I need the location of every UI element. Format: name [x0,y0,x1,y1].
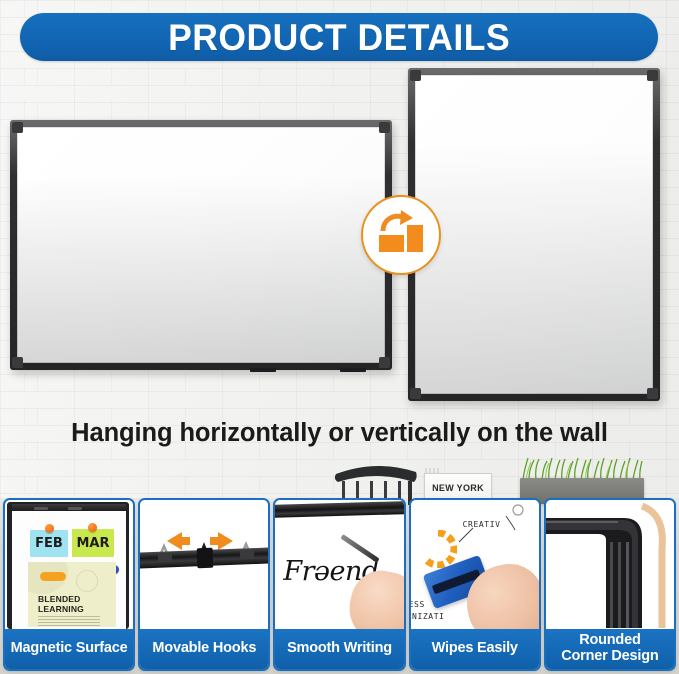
sketch-word-anizati: ANIZATI [411,612,445,621]
rotate-orientation-icon [375,209,427,262]
mini-whiteboard-surface: FEB MAR BLENDED LEARNING [12,510,126,629]
corner-top-left [410,70,421,81]
hero-headline: Hanging horizontally or vertically on th… [0,419,679,448]
rail-hook-1 [34,507,48,510]
feature-panel-wipes-easily[interactable]: CREATIV IDEA LOPING ESS ANIZATI Wipes Ea… [409,498,541,671]
magnet-orange-1 [45,524,54,533]
mini-whiteboard-rail [12,504,126,511]
whiteboard-horizontal [10,120,392,370]
corner-bottom-left [410,388,421,399]
corner-bottom-left [12,357,23,368]
board-rail [275,501,403,518]
grass-prop [520,456,644,480]
feature-art-movable-hooks [140,500,268,629]
feature-panel-movable-hooks[interactable]: Movable Hooks [138,498,270,671]
poster-body-lines [38,616,100,627]
feature-art-wipes-easily: CREATIV IDEA LOPING ESS ANIZATI [411,500,539,629]
feature-caption-wipes-easily: Wipes Easily [411,629,539,669]
sketch-word-ess: ESS [411,600,425,609]
feature-art-smooth-writing: Frəend [275,500,403,629]
hook-rail-group [140,534,268,576]
corner-top-right [647,70,658,81]
feature-panel-magnetic-surface[interactable]: FEB MAR BLENDED LEARNING [3,498,135,671]
poster-badge [40,572,66,581]
pen-tray-right [340,368,366,372]
feature-caption-magnetic-surface: Magnetic Surface [5,629,133,669]
page-title: PRODUCT DETAILS [168,19,510,56]
poster-title: BLENDED LEARNING [38,594,84,615]
product-details-image: PRODUCT DETAILS NEW YORK [0,0,679,674]
header-banner: PRODUCT DETAILS [20,13,658,61]
feature-art-rounded-corner [546,500,674,629]
rounded-corner-closeup [546,500,674,629]
whiteboard-vertical-surface [415,75,653,394]
globe-icon [76,570,98,592]
feature-caption-movable-hooks: Movable Hooks [140,629,268,669]
magnet-orange-2 [88,523,97,532]
poster-blended-learning: BLENDED LEARNING [28,562,116,627]
corner-bottom-right [647,388,658,399]
rail-hook-2 [68,507,82,510]
sticky-note-mar: MAR [72,529,114,557]
feature-caption-smooth-writing: Smooth Writing [275,629,403,669]
mini-whiteboard: FEB MAR BLENDED LEARNING [7,502,129,629]
new-york-sign-label: NEW YORK [432,483,484,493]
feature-panel-smooth-writing[interactable]: Frəend Smooth Writing [273,498,405,671]
pen-tray-left [250,368,276,372]
sticky-note-feb: FEB [30,530,68,557]
whiteboard-vertical [408,68,660,401]
feature-art-magnetic-surface: FEB MAR BLENDED LEARNING [5,500,133,629]
corner-bottom-right [379,357,390,368]
feature-panel-list: FEB MAR BLENDED LEARNING [3,498,676,671]
sketch-word-creativ: CREATIV [463,520,501,529]
corner-top-left [12,122,23,133]
rotate-orientation-badge [361,195,441,275]
feature-caption-rounded-corner: Rounded Corner Design [546,629,674,669]
feature-panel-rounded-corner[interactable]: Rounded Corner Design [544,498,676,671]
corner-top-right [379,122,390,133]
whiteboard-horizontal-surface [17,127,385,363]
